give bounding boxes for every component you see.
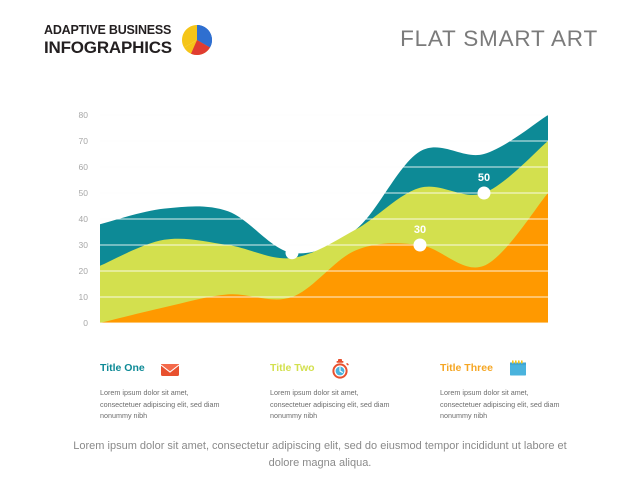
svg-text:30: 30 — [79, 240, 89, 250]
svg-text:80: 80 — [79, 110, 89, 120]
stopwatch-icon — [329, 358, 351, 380]
envelope-icon — [159, 358, 181, 380]
svg-text:70: 70 — [79, 136, 89, 146]
legend-item-one: Title One Lorem ipsum dolor sit amet, co… — [100, 358, 270, 420]
legend-body: Lorem ipsum dolor sit amet, consectetuer… — [100, 387, 220, 422]
legend-title: Title Two — [270, 358, 315, 374]
svg-text:10: 10 — [79, 292, 89, 302]
brand-text: ADAPTIVE BUSINESS INFOGRAPHICS — [44, 24, 172, 56]
legend-title: Title Three — [440, 358, 493, 374]
legend-body: Lorem ipsum dolor sit amet, consectetuer… — [440, 387, 560, 422]
chart-y-axis: 01020304050607080 — [79, 110, 89, 328]
area-chart: 01020304050607080 273050 — [0, 95, 640, 340]
legend-item-two: Title Two Lorem ipsum dolor sit amet, co… — [270, 358, 440, 420]
legend-head: Title Three — [440, 358, 610, 382]
legend-body: Lorem ipsum dolor sit amet, consectetuer… — [270, 387, 390, 422]
footer-caption: Lorem ipsum dolor sit amet, consectetur … — [70, 438, 570, 472]
slide-header: ADAPTIVE BUSINESS INFOGRAPHICS FLAT SMAR… — [0, 0, 640, 78]
legend-title: Title One — [100, 358, 145, 374]
page-title: FLAT SMART ART — [400, 26, 598, 52]
svg-text:30: 30 — [414, 224, 426, 236]
svg-text:27: 27 — [286, 232, 298, 244]
svg-text:50: 50 — [79, 188, 89, 198]
legend-item-three: Title Three Lorem ipsum dolor sit amet, … — [440, 358, 610, 420]
brand-lockup: ADAPTIVE BUSINESS INFOGRAPHICS — [44, 24, 213, 56]
legend-row: Title One Lorem ipsum dolor sit amet, co… — [0, 358, 640, 420]
brand-line-secondary: INFOGRAPHICS — [44, 39, 172, 56]
brand-line-primary: ADAPTIVE BUSINESS — [44, 24, 172, 37]
svg-text:40: 40 — [79, 214, 89, 224]
calendar-icon — [507, 358, 529, 380]
svg-text:50: 50 — [478, 172, 490, 184]
legend-head: Title One — [100, 358, 270, 382]
legend-head: Title Two — [270, 358, 440, 382]
pie-chart-logo-icon — [181, 24, 213, 56]
svg-text:60: 60 — [79, 162, 89, 172]
svg-text:20: 20 — [79, 266, 89, 276]
svg-text:0: 0 — [83, 318, 88, 328]
